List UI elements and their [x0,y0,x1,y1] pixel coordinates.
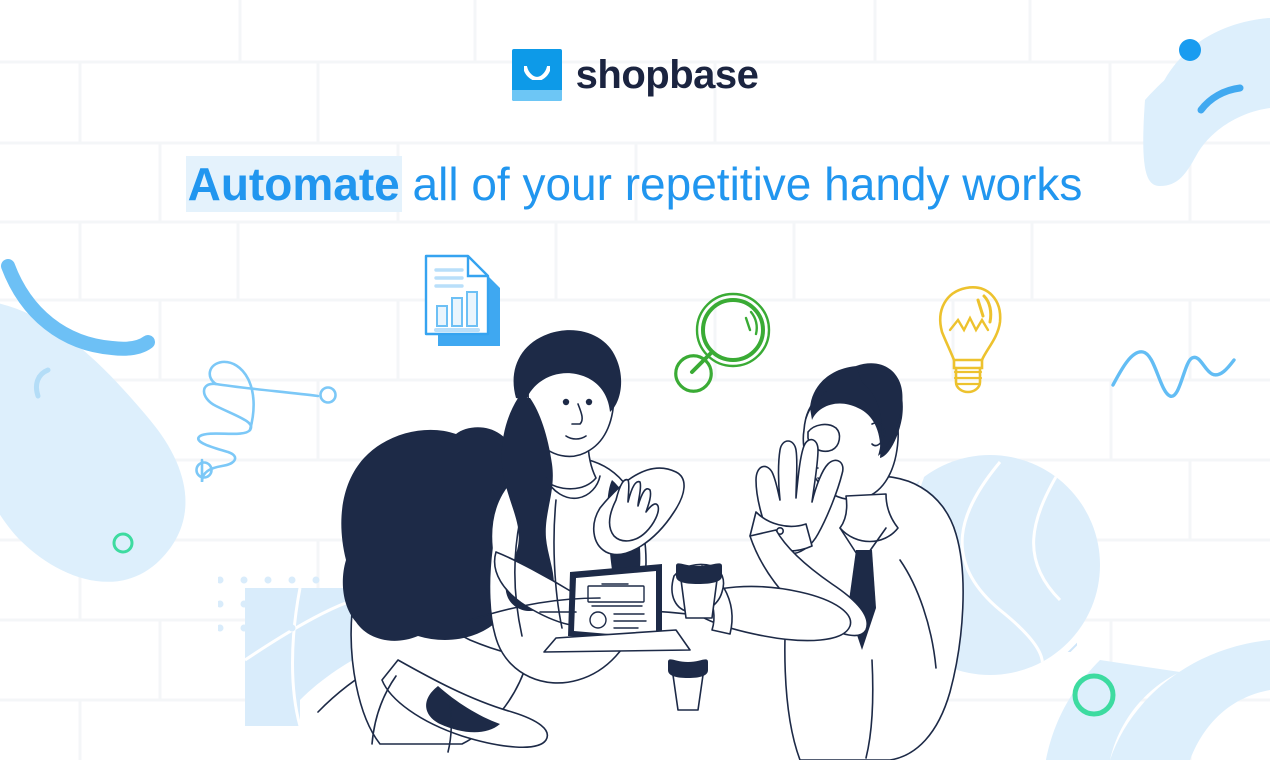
sine-wave-line [1113,352,1234,396]
logo-bottom-band [512,90,562,101]
hero-page: shopbase Automate all of your repetitive… [0,0,1270,760]
smile-icon [524,66,550,80]
headline-highlight: Automate [188,158,400,210]
blue-arc-left-small [36,370,48,396]
decorative-icons-layer [0,0,1270,760]
headline-rest: all of your repetitive handy works [400,158,1083,210]
green-circle-outline-small [114,534,132,552]
brand-wordmark: shopbase [576,55,759,95]
brand-logo[interactable]: shopbase [0,49,1270,101]
blue-arc-left [8,266,148,349]
magnifying-glass-icon [676,294,769,391]
page-title: Automate all of your repetitive handy wo… [0,152,1270,216]
shopbase-smile-logo [512,49,562,101]
document-chart-icon [426,256,500,346]
green-circle-outline-large [1075,676,1113,714]
lightbulb-idea-icon [940,287,1000,392]
squiggle-loop-line [197,362,336,482]
